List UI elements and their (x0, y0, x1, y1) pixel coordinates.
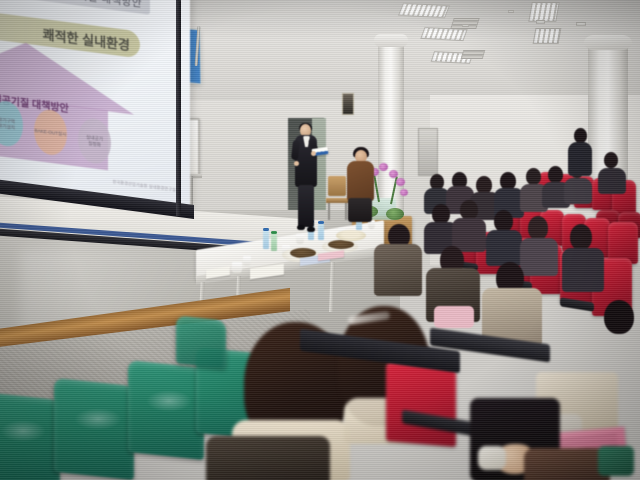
green-seat-wear (0, 420, 46, 442)
audience-body (374, 244, 422, 296)
ceiling-spot-icon (576, 22, 586, 26)
orchid-bloom (400, 189, 408, 196)
presenter-right-hand (311, 151, 316, 156)
standing-attendee-head (574, 128, 587, 143)
audience-body (562, 248, 604, 292)
paper-cup (243, 256, 251, 266)
ceiling-light-icon (533, 28, 562, 44)
ceiling-spot-icon (536, 20, 545, 24)
column-right-capital (584, 35, 632, 50)
audience-head (460, 200, 478, 220)
audience-body (520, 238, 558, 276)
wall-speaker-icon (342, 93, 354, 115)
audience-head (548, 166, 563, 183)
audience-head (526, 168, 541, 185)
ceiling-light-icon (528, 2, 560, 22)
chair-leg (328, 203, 330, 220)
water-bottle (271, 233, 277, 251)
attendee-legs (348, 198, 372, 222)
screen-support-pole (176, 0, 181, 216)
red-seat (386, 361, 456, 447)
tissue (478, 446, 506, 470)
foreground-coat (206, 436, 330, 480)
seated-attendee-brown-jacket (344, 148, 378, 220)
ceiling-spot-icon (462, 24, 469, 27)
slide-oval-4-label: 실내공기 질정화 (86, 134, 103, 148)
orchid-bloom (389, 170, 398, 178)
green-seat-wear (146, 390, 192, 412)
air-vent-icon (461, 50, 486, 59)
snack-food (328, 240, 354, 249)
presenter (292, 124, 322, 234)
pink-item (434, 306, 474, 328)
presenter-shoe (297, 225, 305, 230)
ceiling-light-icon (398, 3, 450, 19)
slide-oval-2-label: 환기구역 환기설치 (0, 117, 15, 131)
orchid-bloom (396, 178, 405, 186)
audience-head (494, 210, 513, 232)
bottle-cap-icon (271, 231, 277, 234)
slide-heading: 실내공기질 대책방안 (0, 0, 150, 12)
snack-plate (336, 230, 366, 241)
slide-oval-3-label: BAKE-OUT실시 (35, 127, 67, 137)
presenter-shoe (307, 227, 315, 232)
water-bottle (263, 230, 269, 249)
green-item (598, 446, 634, 476)
slide-heading-bar: 실내공기질 대책방안 (0, 0, 150, 15)
ceiling-spot-icon (508, 10, 514, 13)
paper-cup (232, 262, 242, 273)
audience-head (570, 224, 592, 250)
photo-scene: 발표회 표회 구대학교 환경공학과 실내공기질 대책방안 쾌적한 실내환경 (0, 0, 640, 480)
presenter-left-hand (294, 161, 299, 166)
audience-body (598, 168, 626, 194)
projection-screen: 실내공기질 대책방안 쾌적한 실내환경 실내공기질 대책방안 친환경 건축자재 … (0, 0, 190, 209)
green-seat-wear (74, 408, 122, 430)
presentation-slide: 실내공기질 대책방안 쾌적한 실내환경 실내공기질 대책방안 친환경 건축자재 … (0, 0, 190, 209)
green-seat (176, 315, 226, 368)
audience-head (604, 152, 618, 168)
foliage (386, 208, 404, 220)
bottle-cap-icon (263, 228, 269, 231)
standing-attendee-body (568, 142, 592, 176)
audience-head (528, 216, 548, 240)
wall-cabinet (418, 128, 438, 176)
attendee-brown-jacket (347, 161, 374, 201)
column-left-capital (374, 34, 408, 47)
audience-head (432, 204, 450, 224)
paper-cup (296, 234, 304, 244)
orchid-bloom (379, 163, 388, 171)
audience-head (604, 300, 634, 334)
presenter-legs (298, 185, 314, 227)
audience-body (564, 178, 592, 204)
slide-footer: 한국환경산업기술원 실내환경연구실 (113, 179, 176, 193)
audience-body (486, 230, 522, 266)
